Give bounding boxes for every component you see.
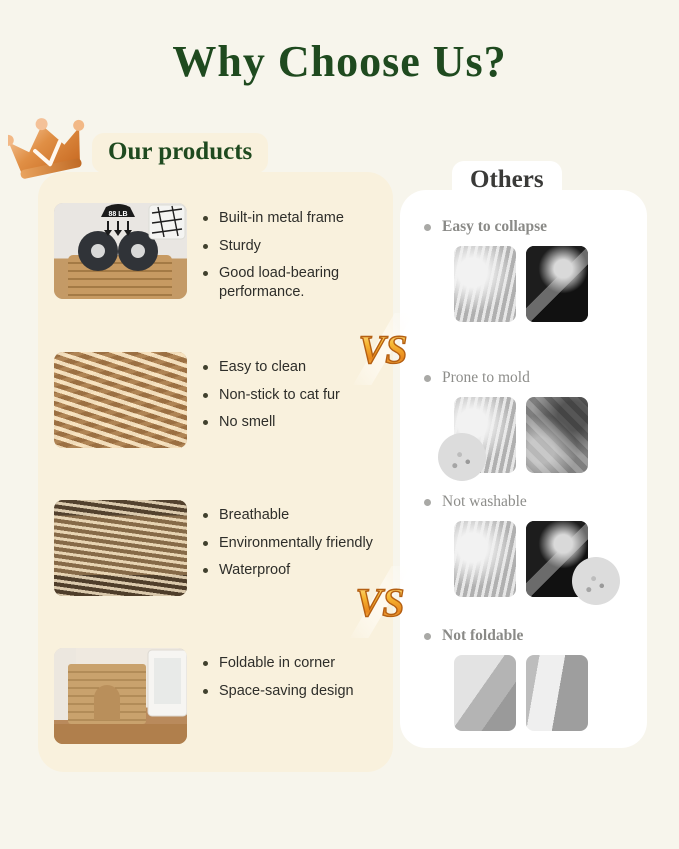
folded-in-corner-photo — [54, 648, 187, 744]
crown-icon — [8, 118, 92, 180]
feature-list: Built-in metal frame Sturdy Good load-be… — [203, 203, 383, 310]
list-item: No smell — [203, 413, 383, 432]
vs-badge-top: VS — [351, 313, 415, 385]
collapsed-white-fabric-photo — [454, 246, 516, 322]
others-row: Not foldable — [424, 627, 523, 733]
others-heading: Not foldable — [424, 627, 523, 645]
mold-stain-texture-photo — [526, 397, 588, 473]
feature-list: Foldable in corner Space-saving design — [203, 648, 383, 709]
others-label: Others — [452, 161, 562, 201]
others-row: Easy to collapse — [424, 218, 547, 324]
basket-with-weight-plates-photo: 88 LB — [54, 203, 187, 299]
list-item: Foldable in corner — [203, 654, 383, 673]
our-product-row: 88 LB Built — [54, 203, 383, 310]
list-item: Space-saving design — [203, 682, 383, 701]
breathable-weave-photo — [54, 500, 187, 596]
list-item: Non-stick to cat fur — [203, 386, 383, 405]
rigid-box-photo — [454, 655, 516, 731]
weight-label: 88 LB — [108, 211, 127, 218]
our-product-row: Foldable in corner Space-saving design — [54, 648, 383, 744]
vs-label: VS — [356, 580, 405, 625]
list-item: Good load-bearing performance. — [203, 264, 383, 301]
mold-spots-disc — [438, 433, 486, 481]
ribbed-fabric-photo — [454, 521, 516, 597]
list-item: Built-in metal frame — [203, 209, 383, 228]
vs-badge-bottom: VS — [348, 566, 412, 638]
dirt-spots-disc — [572, 557, 620, 605]
our-products-label: Our products — [92, 133, 268, 173]
woven-rattan-closeup-photo — [54, 352, 187, 448]
others-heading: Prone to mold — [424, 369, 530, 387]
metal-box-photo — [526, 655, 588, 731]
others-heading: Not washable — [424, 493, 527, 511]
list-item: Environmentally friendly — [203, 534, 383, 553]
our-product-row: Easy to clean Non-stick to cat fur No sm… — [54, 352, 383, 448]
collapsed-dark-fabric-photo — [526, 246, 588, 322]
our-product-row: Breathable Environmentally friendly Wate… — [54, 500, 383, 596]
page-title: Why Choose Us? — [0, 36, 679, 87]
list-item: Sturdy — [203, 237, 383, 256]
others-heading: Easy to collapse — [424, 218, 547, 236]
others-row: Not washable — [424, 493, 527, 599]
list-item: Breathable — [203, 506, 383, 525]
infographic-root: Why Choose Us? Our products Others — [0, 0, 679, 849]
vs-label: VS — [359, 327, 408, 372]
others-row: Prone to mold — [424, 369, 530, 475]
